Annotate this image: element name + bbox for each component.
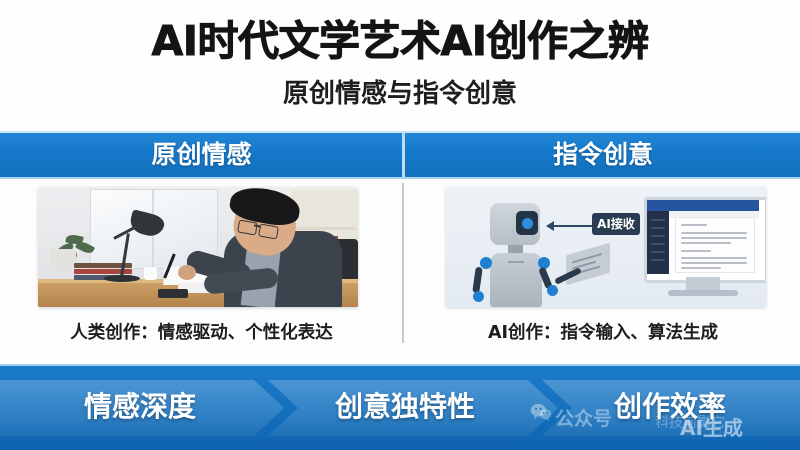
page-subtitle: 原创情感与指令创意: [0, 78, 800, 110]
process-step-label-2: 创意独特性: [300, 364, 510, 450]
signal-arrow-head-icon: [546, 221, 554, 231]
slide-canvas: AI时代文学艺术AI创作之辨 原创情感与指令创意 原创情感 指令创意: [0, 0, 800, 450]
signal-arrow-line: [548, 225, 592, 227]
ai-receive-badge: AI接收: [592, 213, 640, 235]
page-title: AI时代文学艺术AI创作之辨: [0, 16, 800, 66]
comparison-panels: 人类创作：情感驱动、个性化表达: [0, 179, 800, 364]
process-step-label-1: 情感深度: [40, 364, 240, 450]
photo-person-hand: [178, 265, 196, 280]
photo-plant-pot: [50, 249, 76, 271]
ai-creation-caption: AI创作：指令输入、算法生成: [406, 319, 800, 344]
photo-desk-lamp-base: [104, 275, 140, 282]
ai-creation-illustration: AI接收: [446, 187, 766, 307]
title-block: AI时代文学艺术AI创作之辨 原创情感与指令创意: [0, 0, 800, 128]
monitor-base: [668, 290, 738, 296]
panel-human: 人类创作：情感驱动、个性化表达: [0, 179, 403, 364]
header-divider: [402, 131, 405, 179]
robot-elbow-left: [473, 291, 484, 302]
monitor-titlebar: [647, 200, 759, 211]
robot-eye: [522, 218, 533, 229]
photo-phone: [158, 289, 188, 298]
process-step-label-3: 创作效率: [570, 364, 770, 450]
wechat-icon: [530, 403, 552, 421]
monitor-stand: [686, 277, 720, 290]
column-header-left: 原创情感: [0, 131, 403, 179]
human-creation-caption: 人类创作：情感驱动、个性化表达: [0, 319, 403, 344]
panel-ai: AI接收 AI创作：指令输入、算法生成: [406, 179, 800, 364]
column-header-right: 指令创意: [406, 131, 800, 179]
monitor-document: [675, 217, 755, 273]
human-creation-photo: [38, 187, 358, 307]
monitor-sidebar: [647, 211, 669, 274]
photo-shelf-rail: [290, 227, 356, 230]
photo-cup: [144, 267, 157, 280]
robot-shoulder-left: [480, 257, 492, 269]
robot-elbow-right: [547, 285, 558, 296]
robot-torso-detail: [508, 261, 524, 263]
column-header-bar: 原创情感 指令创意: [0, 131, 800, 179]
